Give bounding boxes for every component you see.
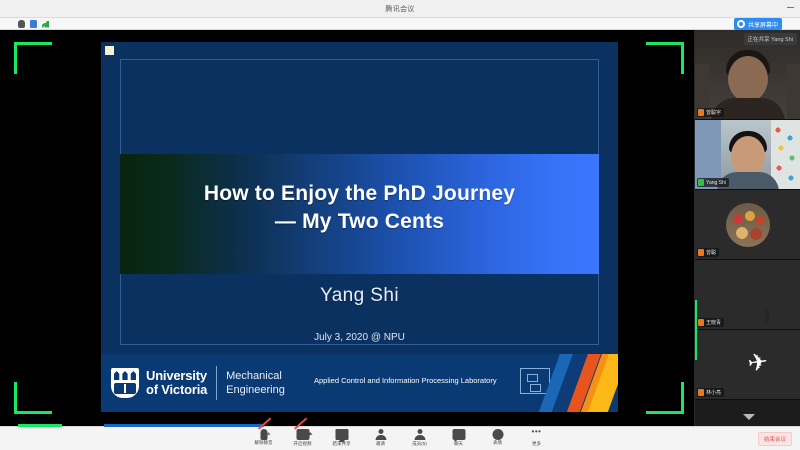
toolbar-button-share[interactable]: 结束共享 (328, 429, 356, 447)
footer-divider (216, 366, 217, 400)
panel-scroll-indicator (695, 300, 697, 360)
screen-share-icon (737, 20, 745, 28)
microphone-active-icon (698, 179, 704, 186)
microphone-muted-icon (698, 319, 704, 326)
status-strip: 共享屏幕中 会议ID 结束共享 (0, 18, 800, 30)
toolbar-items: 解除静音 开启视频 结束共享 邀请 成员(5) (250, 429, 551, 447)
toolbar-button-participants[interactable]: 成员(5) (406, 429, 434, 447)
department-name: Mechanical Engineering (226, 369, 285, 397)
taskbar-window-marker (104, 424, 264, 427)
toolbar-label: 表情 (493, 440, 502, 446)
participant-name: Yang Shi (706, 180, 726, 186)
participant-name-chip: Yang Shi (697, 178, 729, 187)
avatar (731, 136, 765, 176)
more-icon (530, 429, 543, 440)
chevron-down-icon[interactable] (743, 414, 755, 420)
toolbar-button-emoji[interactable]: 表情 (484, 429, 512, 446)
end-meeting-button[interactable]: 结束会议 (758, 432, 792, 446)
slide-title-line1: How to Enjoy the PhD Journey (120, 182, 599, 206)
minimize-button[interactable] (787, 7, 794, 8)
sharing-indicator-chip: 正在共享 Yang Shi (744, 33, 797, 45)
university-crest-icon (111, 368, 139, 398)
laboratory-name: Applied Control and Information Processi… (314, 376, 497, 385)
participant-name: 王晓青 (706, 319, 721, 326)
share-frame-bottom-marker (18, 424, 62, 427)
meeting-toolbar: 解除静音 开启视频 结束共享 邀请 成员(5) (0, 426, 800, 450)
participant-video-panel: 正在共享 Yang Shi 曾聪宇 Yang Shi (694, 30, 800, 426)
slide-title-line2: — My Two Cents (120, 210, 599, 234)
participant-name: 曾聪宇 (706, 109, 721, 116)
participant-avatar-tile[interactable]: 王晓青 (695, 260, 800, 330)
toolbar-button-video[interactable]: 开启视频 (289, 429, 317, 447)
presentation-slide: How to Enjoy the PhD Journey — My Two Ce… (101, 42, 618, 412)
camera-status-icon[interactable] (30, 20, 37, 28)
slide-title-band: How to Enjoy the PhD Journey — My Two Ce… (120, 154, 599, 274)
shared-screen-stage: How to Enjoy the PhD Journey — My Two Ce… (0, 30, 694, 426)
chat-icon (452, 429, 465, 440)
toolbar-button-invite[interactable]: 邀请 (367, 429, 395, 447)
department-name-line1: Mechanical (226, 369, 285, 383)
slide-date-venue: July 3, 2020 @ NPU (120, 332, 599, 343)
toolbar-label: 更多 (532, 441, 541, 447)
university-name: University of Victoria (146, 369, 207, 397)
microphone-status-icon[interactable] (18, 20, 25, 28)
department-name-line2: Engineering (226, 383, 285, 397)
invite-icon (374, 429, 387, 440)
window-title: 腾讯会议 (0, 4, 800, 14)
university-name-line2: of Victoria (146, 383, 207, 397)
window-titlebar: 腾讯会议 (0, 0, 800, 18)
slide-footer: University of Victoria Mechanical Engine… (101, 354, 618, 412)
status-icon-group (18, 20, 49, 28)
network-signal-icon (42, 21, 49, 28)
toolbar-label: 开启视频 (294, 441, 312, 447)
avatar (726, 203, 770, 247)
microphone-muted-icon (260, 429, 267, 440)
share-screen-icon (335, 429, 348, 440)
microphone-muted-icon (698, 389, 704, 396)
slide-speaker-name: Yang Shi (120, 285, 599, 307)
toolbar-button-chat[interactable]: 聊天 (445, 429, 473, 447)
toolbar-label: 解除静音 (255, 440, 273, 446)
avatar (728, 56, 768, 102)
participant-name: 曾聪 (706, 249, 716, 256)
sharing-status-label: 共享屏幕中 (748, 20, 778, 29)
slide-footer-branding: University of Victoria Mechanical Engine… (111, 362, 285, 404)
participant-video-tile[interactable]: Yang Shi (695, 120, 800, 190)
toolbar-button-mute[interactable]: 解除静音 (250, 429, 278, 446)
slide-corner-marker (105, 46, 114, 55)
participant-avatar-tile[interactable]: 林小亮 (695, 330, 800, 400)
participant-avatar-tile[interactable]: 曾聪 (695, 190, 800, 260)
footer-stripes-decoration (544, 354, 618, 412)
camera-off-icon (296, 429, 309, 440)
toolbar-button-more[interactable]: 更多 (523, 429, 551, 447)
microphone-muted-icon (698, 109, 704, 116)
participant-name-chip: 林小亮 (697, 388, 724, 397)
participant-name-chip: 王晓青 (697, 318, 724, 327)
participant-name-chip: 曾聪宇 (697, 108, 724, 117)
participant-name-chip: 曾聪 (697, 248, 719, 257)
toolbar-label: 邀请 (376, 441, 385, 447)
participant-name: 林小亮 (706, 389, 721, 396)
emoji-icon (492, 429, 503, 440)
participants-icon (413, 429, 426, 440)
microphone-muted-icon (698, 249, 704, 256)
university-name-line1: University (146, 369, 207, 383)
meeting-app-window: 腾讯会议 共享屏幕中 会议ID 结束共享 How to Enjoy the Ph… (0, 0, 800, 450)
sharing-status-button[interactable]: 共享屏幕中 (734, 18, 782, 30)
toolbar-label: 成员(5) (412, 441, 427, 447)
